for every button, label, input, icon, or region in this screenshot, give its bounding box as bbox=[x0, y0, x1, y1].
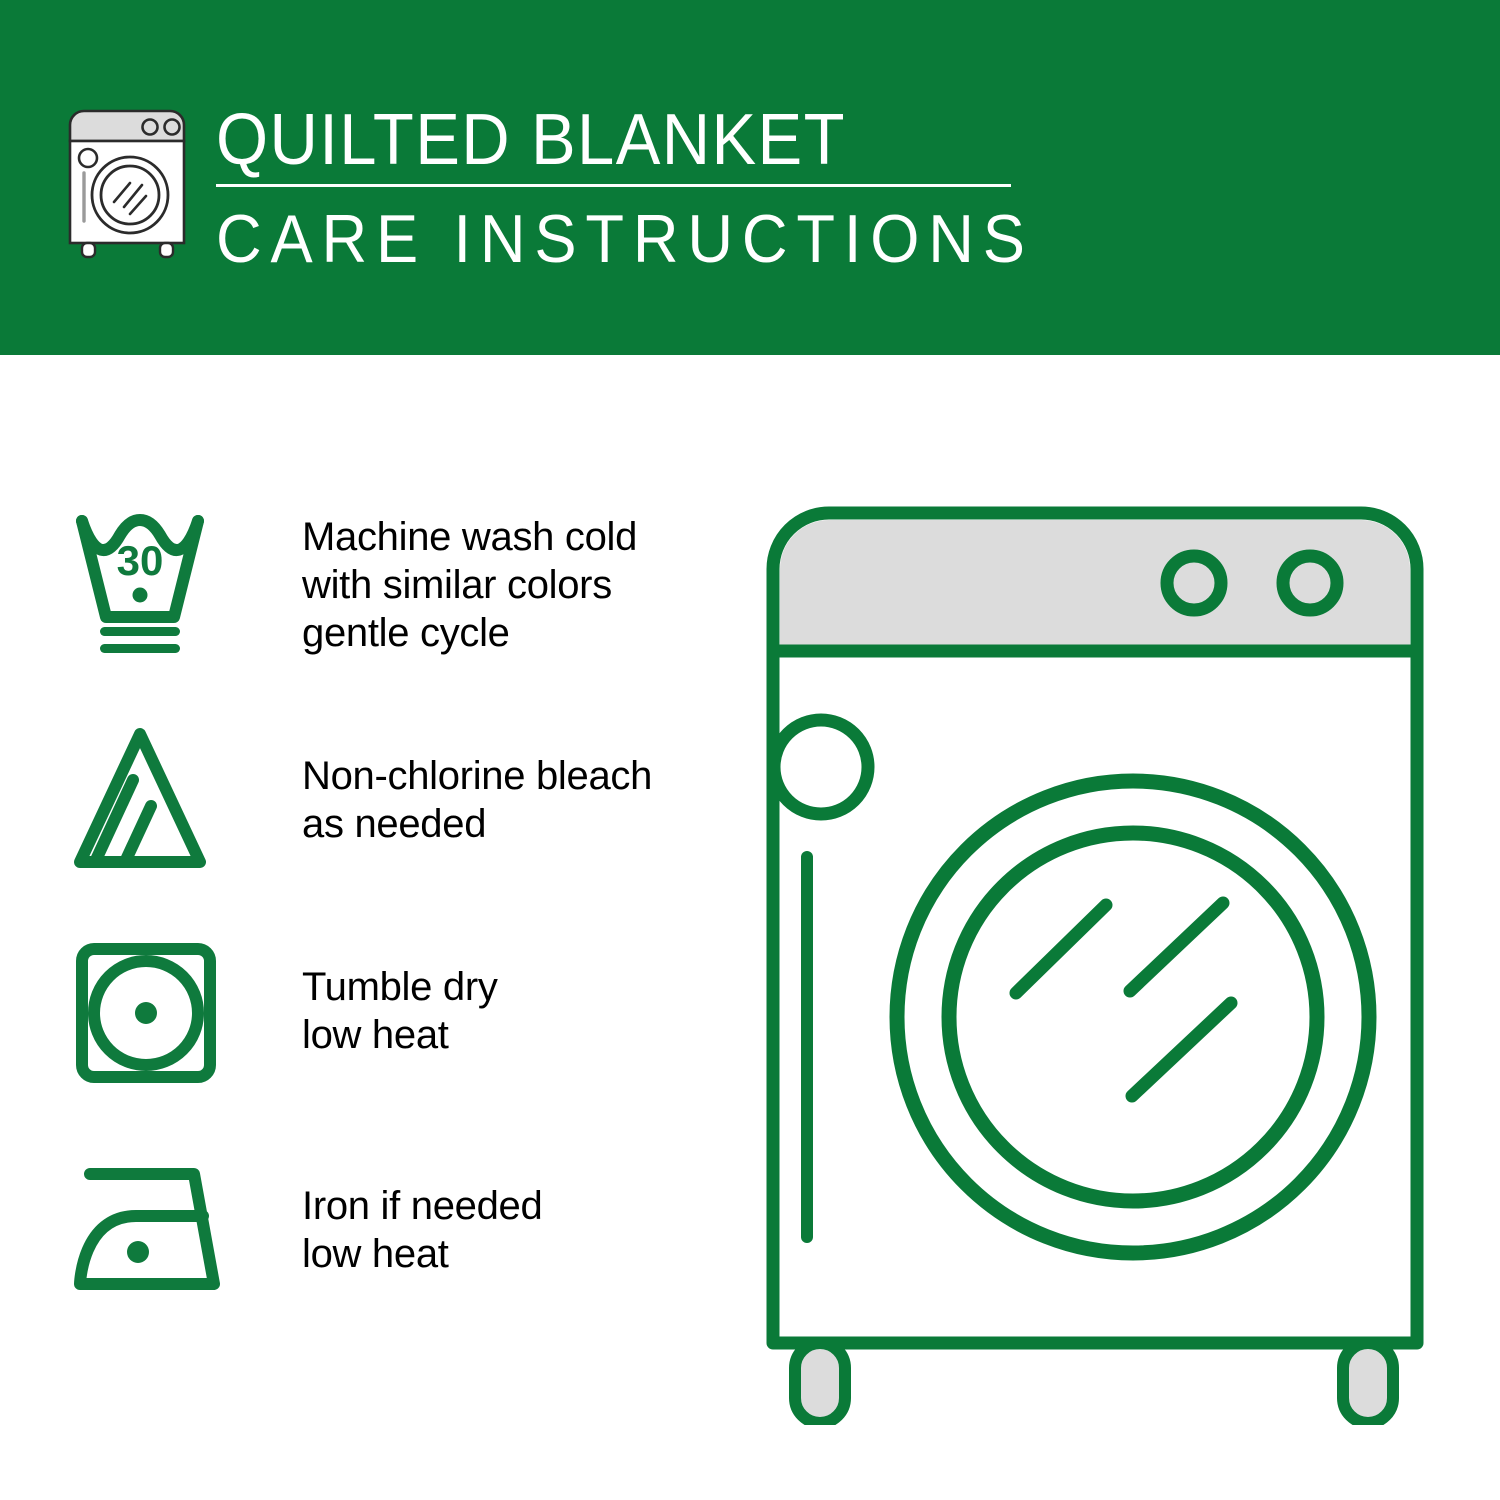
bleach-triangle-icon bbox=[70, 720, 245, 880]
page-title: QUILTED BLANKET bbox=[216, 100, 960, 180]
front-load-washing-machine-illustration bbox=[735, 495, 1455, 1425]
tumble-dry-icon bbox=[70, 935, 245, 1095]
care-row-bleach: Non-chlorine bleach as needed bbox=[70, 720, 710, 935]
care-text-tumble-dry: Tumble dry low heat bbox=[302, 963, 498, 1059]
header-band: QUILTED BLANKET CARE INSTRUCTIONS bbox=[0, 0, 1500, 355]
wash-tub-30-icon: 30 bbox=[70, 505, 245, 665]
leg-right bbox=[1343, 1343, 1393, 1423]
care-text-iron: Iron if needed low heat bbox=[302, 1182, 542, 1278]
page-subtitle: CARE INSTRUCTIONS bbox=[216, 201, 960, 277]
iron-icon bbox=[70, 1150, 245, 1310]
care-text-bleach: Non-chlorine bleach as needed bbox=[302, 752, 652, 848]
title-divider bbox=[216, 184, 1011, 187]
care-instruction-list: 30 Machine wash cold with similar colors… bbox=[70, 505, 710, 1365]
care-row-tumble-dry: Tumble dry low heat bbox=[70, 935, 710, 1150]
care-text-machine-wash: Machine wash cold with similar colors ge… bbox=[302, 513, 637, 657]
leg-left bbox=[795, 1343, 845, 1423]
control-panel bbox=[780, 520, 1410, 649]
content-area: 30 Machine wash cold with similar colors… bbox=[0, 355, 1500, 1500]
care-row-iron: Iron if needed low heat bbox=[70, 1150, 710, 1365]
header-title-group: QUILTED BLANKET CARE INSTRUCTIONS bbox=[216, 100, 1016, 277]
svg-text:30: 30 bbox=[117, 537, 164, 584]
washing-machine-logo-icon bbox=[62, 103, 192, 263]
care-row-machine-wash: 30 Machine wash cold with similar colors… bbox=[70, 505, 710, 720]
